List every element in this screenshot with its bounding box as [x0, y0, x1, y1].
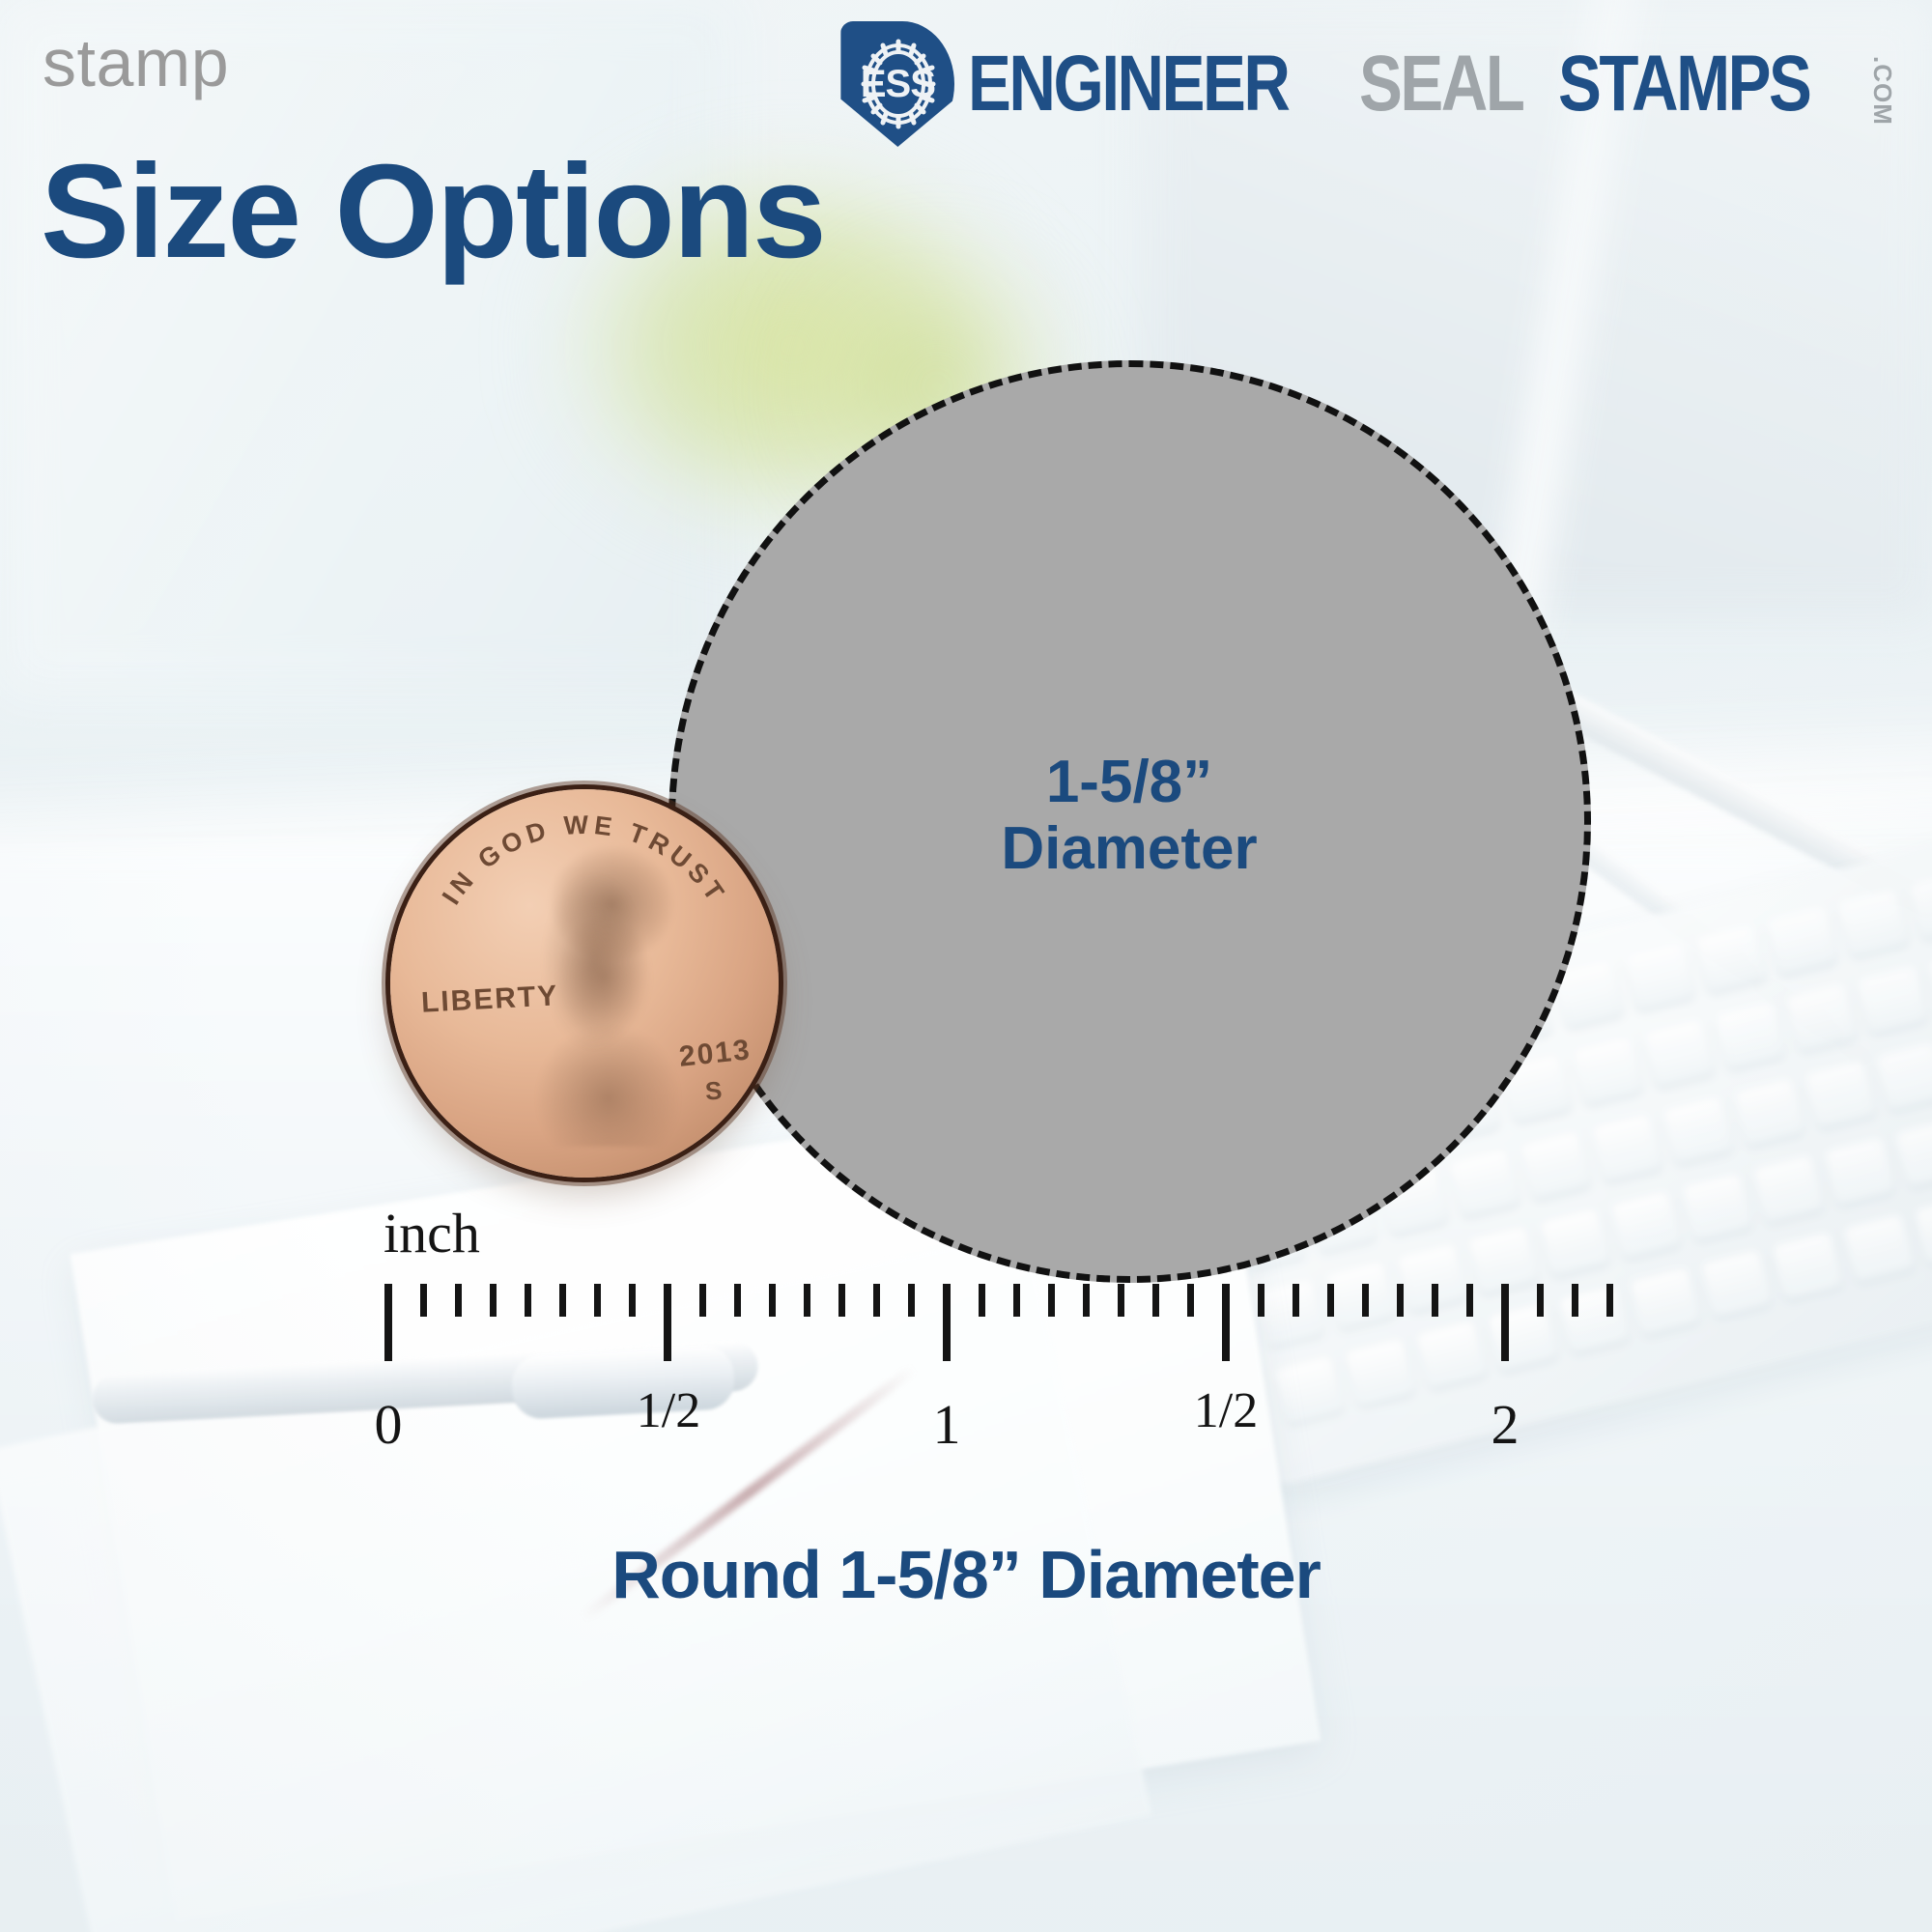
ruler-minor-tick: [629, 1284, 636, 1317]
ruler-minor-tick: [1258, 1284, 1264, 1317]
ruler-minor-tick: [873, 1284, 880, 1317]
ruler-minor-tick: [1293, 1284, 1299, 1317]
ruler-major-tick: [384, 1284, 392, 1361]
ruler-minor-tick: [1606, 1284, 1613, 1317]
ruler-minor-tick: [908, 1284, 915, 1317]
ruler-minor-tick: [420, 1284, 427, 1317]
ruler-minor-tick: [594, 1284, 601, 1317]
stamp-size-line-2: Diameter: [675, 815, 1584, 882]
ruler-minor-tick: [455, 1284, 462, 1317]
penny-mintmark-text: S: [704, 1076, 724, 1107]
ruler-major-tick: [664, 1284, 671, 1361]
inch-ruler: inch 01/211/22: [0, 0, 1932, 580]
ruler-minor-tick: [1118, 1284, 1124, 1317]
ruler-minor-tick: [1152, 1284, 1159, 1317]
ruler-minor-tick: [1013, 1284, 1020, 1317]
stamp-size-line-1: 1-5/8”: [675, 749, 1584, 815]
ruler-tick-label: 2: [1492, 1392, 1520, 1457]
ruler-minor-tick: [1048, 1284, 1055, 1317]
ruler-minor-tick: [804, 1284, 810, 1317]
ruler-tick-label: 0: [375, 1392, 403, 1457]
ruler-minor-tick: [525, 1284, 531, 1317]
ruler-minor-tick: [769, 1284, 776, 1317]
svg-text:IN GOD WE TRUST: IN GOD WE TRUST: [437, 810, 732, 910]
ruler-major-tick: [943, 1284, 951, 1361]
ruler-minor-tick: [559, 1284, 566, 1317]
stamp-size-label: 1-5/8” Diameter: [675, 749, 1584, 883]
ruler-tick-label: 1/2: [1194, 1382, 1258, 1439]
penny-motto-arc: IN GOD WE TRUST: [390, 789, 779, 1178]
ruler-minor-tick: [490, 1284, 497, 1317]
ruler-minor-tick: [1327, 1284, 1334, 1317]
ruler-minor-tick: [1187, 1284, 1194, 1317]
ruler-minor-tick: [1432, 1284, 1438, 1317]
ruler-minor-tick: [699, 1284, 706, 1317]
ruler-minor-tick: [1397, 1284, 1404, 1317]
ruler-tick-label: 1: [933, 1392, 961, 1457]
size-options-graphic: stamp Size Options: [0, 0, 1932, 1932]
ruler-minor-tick: [1537, 1284, 1544, 1317]
ruler-minor-tick: [1083, 1284, 1090, 1317]
ruler-minor-tick: [1362, 1284, 1369, 1317]
ruler-major-tick: [1222, 1284, 1230, 1361]
size-caption: Round 1-5/8” Diameter: [0, 1536, 1932, 1613]
ruler-minor-tick: [979, 1284, 985, 1317]
ruler-unit-label: inch: [384, 1201, 480, 1265]
penny-obverse: IN GOD WE TRUST LIBERTY 2013 S: [390, 789, 779, 1178]
penny-coin-reference: IN GOD WE TRUST LIBERTY 2013 S: [390, 789, 779, 1178]
ruler-minor-tick: [1466, 1284, 1473, 1317]
ruler-minor-tick: [1572, 1284, 1578, 1317]
ruler-major-tick: [1501, 1284, 1509, 1361]
ruler-minor-tick: [734, 1284, 741, 1317]
ruler-tick-label: 1/2: [637, 1382, 700, 1439]
ruler-minor-tick: [838, 1284, 845, 1317]
